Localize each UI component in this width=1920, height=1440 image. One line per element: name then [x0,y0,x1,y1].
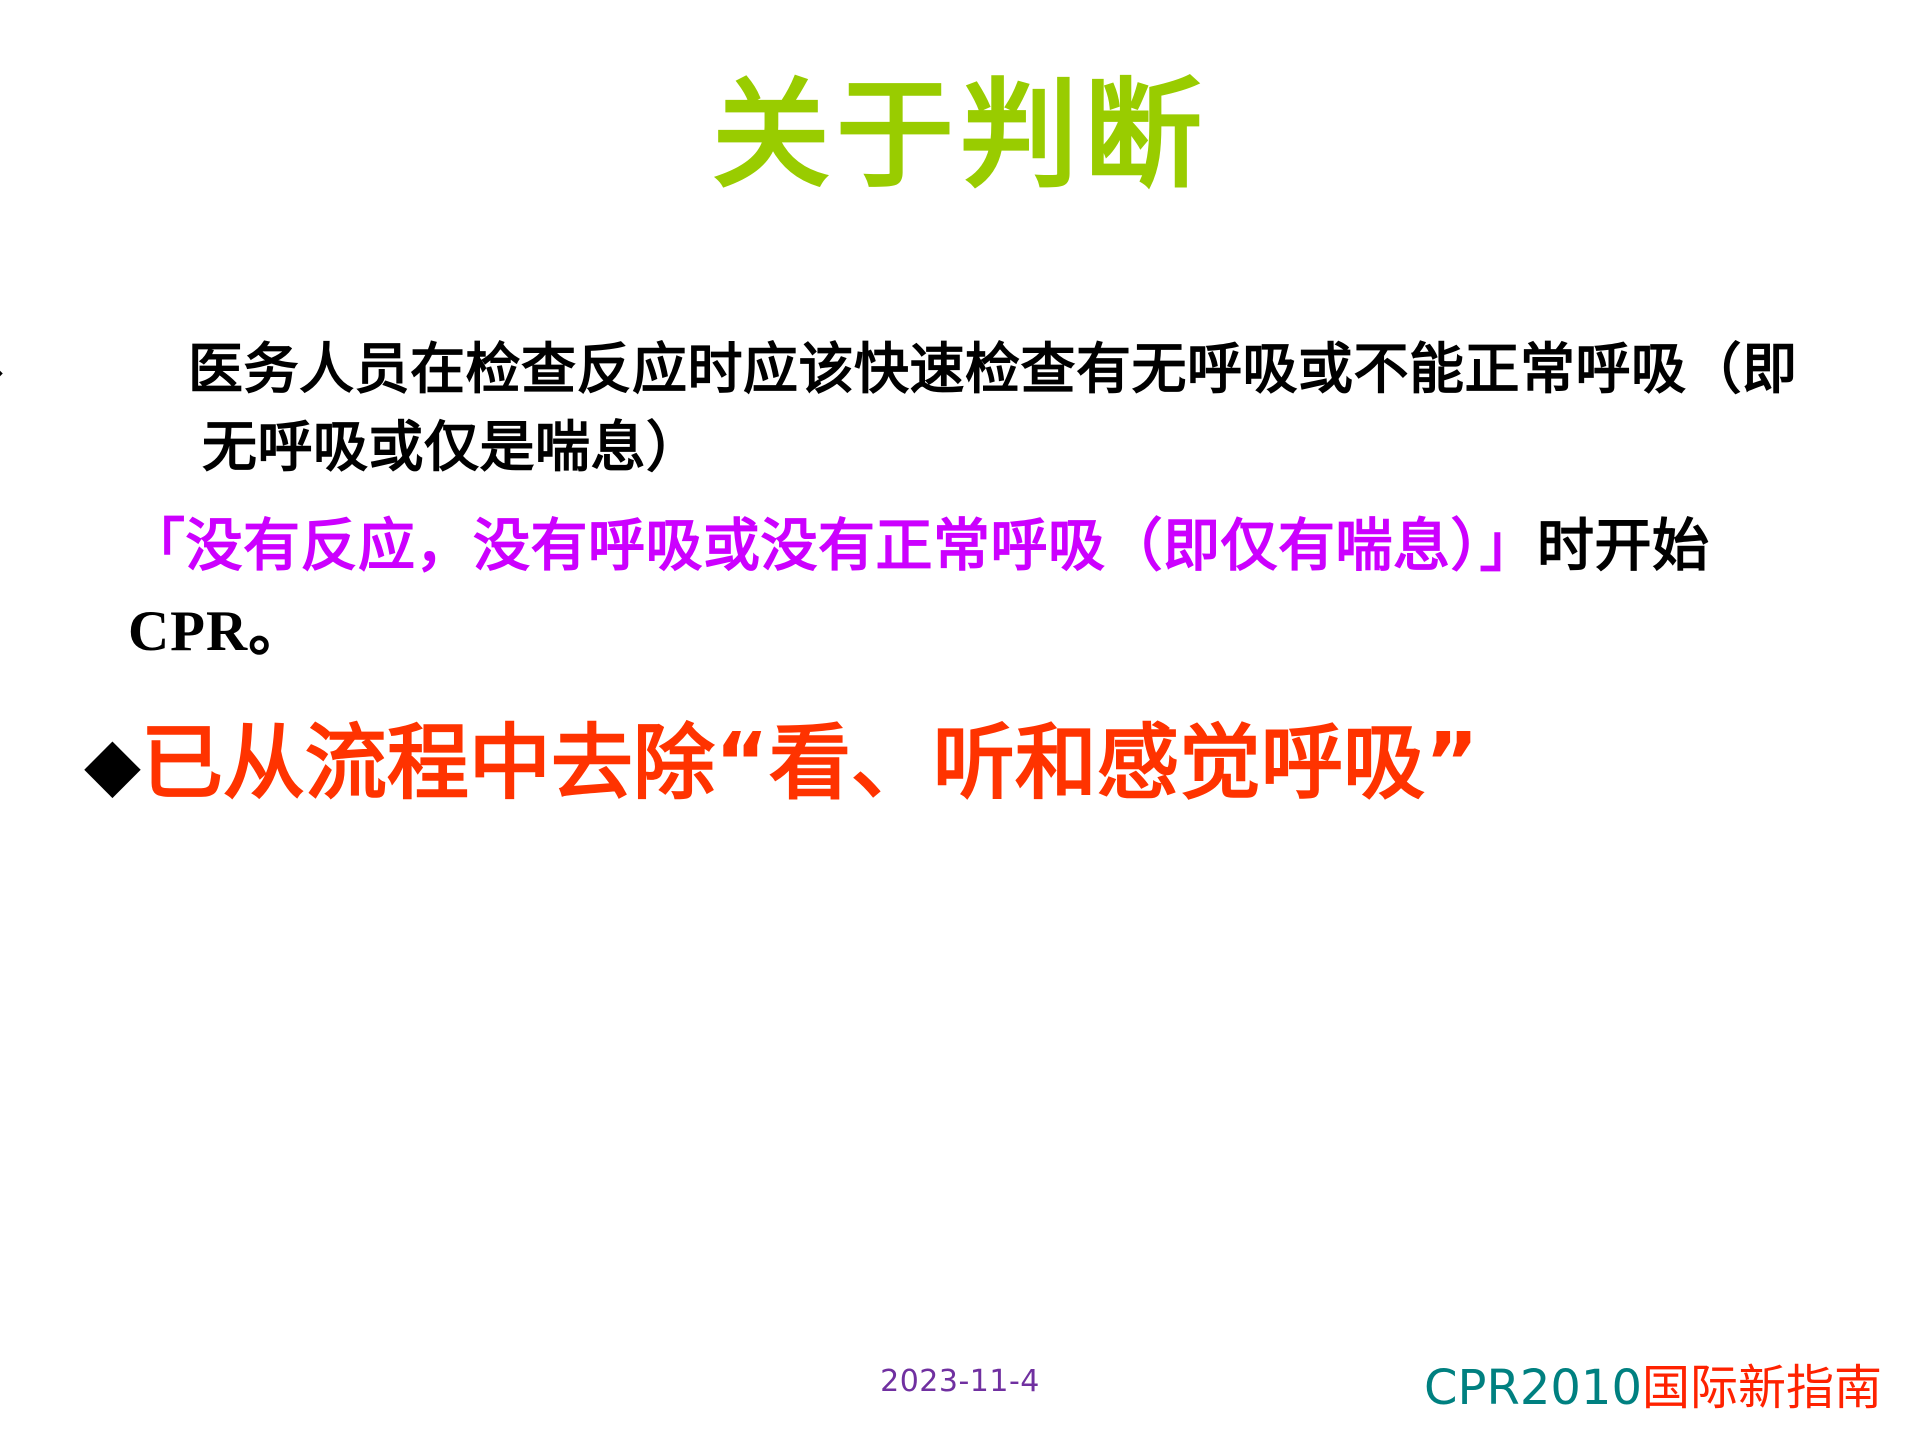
red-emphasis-label: 已从流程中去除“看、听和感觉呼吸 [141,716,1425,811]
red-emphasis-paragraph: ◆已从流程中去除“看、听和感觉呼吸” [84,714,1844,814]
page-title: 关于判断 [0,72,1920,199]
quote-black-text: 时开始 [1537,512,1710,579]
bullet-item-1: ◆医务人员在检查反应时应该快速检查有无呼吸或不能正常呼吸（即无呼吸或仅是喘息） [84,330,1844,486]
diamond-bullet-icon-red: ◆ [84,721,141,807]
footer-brand-cn: 国际新指南 [1642,1360,1882,1416]
quote-paragraph: 「没有反应，没有呼吸或没有正常呼吸（即仅有喘息）」时开始 CPR。 [84,504,1844,674]
quote-cpr-acronym: CPR [128,600,248,663]
diamond-bullet-icon: ◆ [84,336,146,404]
bullet-item-1-label: 医务人员在检查反应时应该快速检查有无呼吸或不能正常呼吸（即无呼吸或仅是喘息） [188,336,1798,479]
footer-brand: CPR2010国际新指南 [1424,1348,1882,1418]
slide-canvas: 关于判断 ◆医务人员在检查反应时应该快速检查有无呼吸或不能正常呼吸（即无呼吸或仅… [0,0,1920,1440]
red-closing-quote: ” [1425,716,1479,811]
quote-black-tail: 。 [248,597,306,664]
quote-magenta-text: 「没有反应，没有呼吸或没有正常呼吸（即仅有喘息）」 [128,512,1537,579]
footer-brand-latin: CPR2010 [1424,1360,1642,1416]
slide-body: ◆医务人员在检查反应时应该快速检查有无呼吸或不能正常呼吸（即无呼吸或仅是喘息） … [84,330,1844,814]
